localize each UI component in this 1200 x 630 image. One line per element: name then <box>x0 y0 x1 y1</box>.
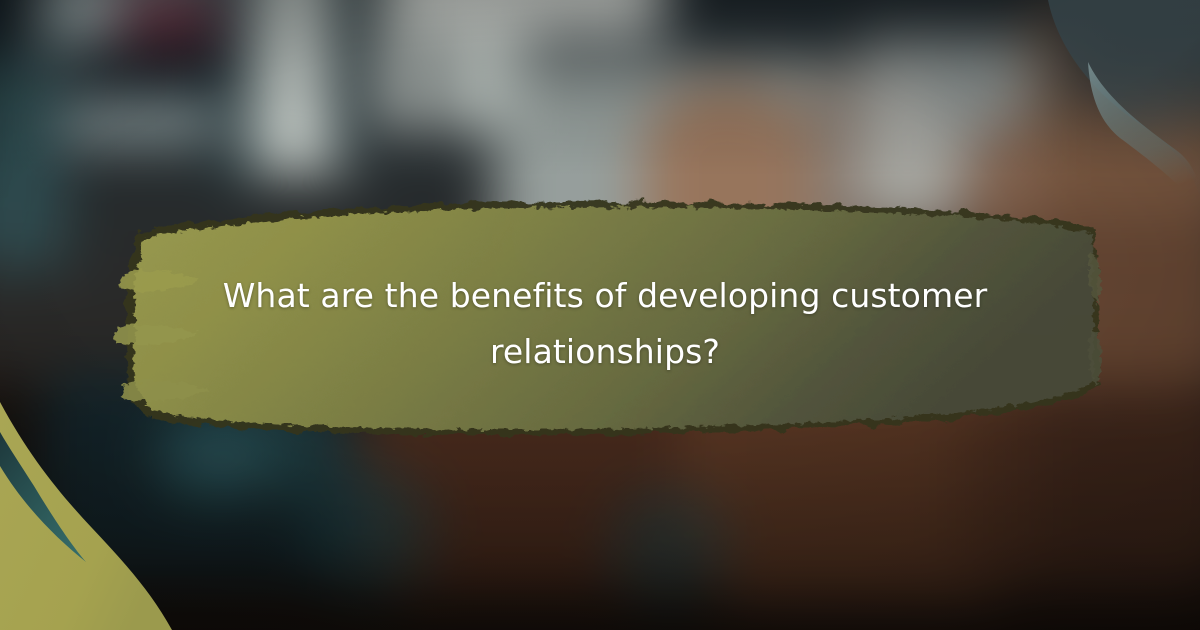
question-card: What are the benefits of developing cust… <box>0 0 1200 630</box>
page-title: What are the benefits of developing cust… <box>150 268 1060 380</box>
